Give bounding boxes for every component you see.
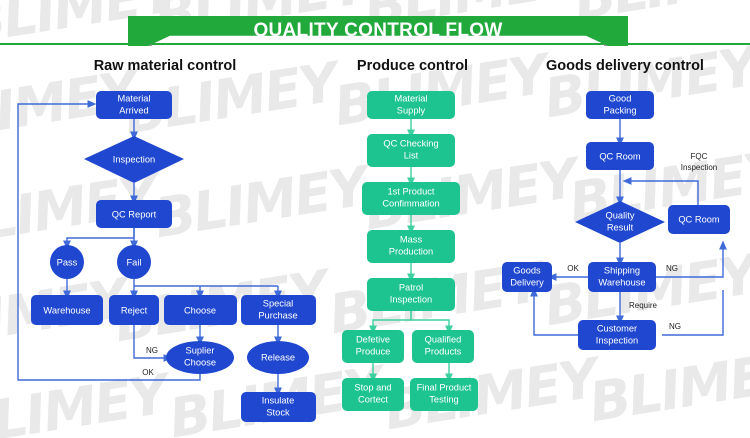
edge-label-ng-top: NG [666, 264, 678, 273]
node-label: Goods [513, 265, 541, 275]
node-label: Final Product [417, 382, 472, 392]
edge-label-fqc-line1: FQC [691, 152, 708, 161]
node-suplier-choose[interactable]: Suplier Choose [166, 341, 234, 374]
node-label: 1st Product [387, 186, 434, 196]
node-label: Supply [397, 105, 426, 115]
node-label: Release [261, 352, 295, 362]
edge-label-ok: OK [142, 368, 154, 377]
edge-label-ok: OK [567, 264, 579, 273]
node-label: Stop and [354, 382, 391, 392]
edge-label-fqc-line2: Inspection [681, 163, 717, 172]
node-insulate-stock[interactable]: Insulate Stock [241, 392, 316, 422]
node-label: Patrol [399, 282, 423, 292]
node-qc-room-main[interactable]: QC Room [586, 142, 654, 170]
node-stop-and-cortect[interactable]: Stop and Cortect [342, 378, 404, 411]
edge-label-ng: NG [146, 346, 158, 355]
node-final-product-testing[interactable]: Final Product Testing [410, 378, 478, 411]
node-label: Inspection [596, 335, 638, 345]
node-label: Good [609, 93, 632, 103]
node-shipping-warehouse[interactable]: Shipping Warehouse [588, 262, 656, 292]
node-reject[interactable]: Reject [109, 295, 159, 325]
node-label: Result [607, 222, 634, 232]
node-label: Inspection [390, 294, 432, 304]
node-special-purchase[interactable]: Special Purchase [241, 295, 316, 325]
node-label: Inspection [113, 154, 155, 164]
node-material-arrived[interactable]: Material Arrived [96, 91, 172, 119]
node-material-supply[interactable]: Material Supply [367, 91, 455, 119]
node-label: Quality [606, 210, 635, 220]
node-qc-report[interactable]: QC Report [96, 200, 172, 228]
node-label: QC Checking [383, 138, 438, 148]
node-qualified-products[interactable]: Qualified Products [412, 330, 474, 363]
node-label: Material [117, 93, 150, 103]
node-label: QC Report [112, 209, 157, 219]
node-label: Mass [400, 234, 423, 244]
node-label: Cortect [358, 394, 388, 404]
node-label: Qualified [425, 334, 462, 344]
node-defetive-produce[interactable]: Defetive Produce [342, 330, 404, 363]
node-label: Testing [429, 394, 458, 404]
node-first-product-confimmation[interactable]: 1st Product Confimmation [362, 182, 460, 215]
node-warehouse[interactable]: Warehouse [31, 295, 103, 325]
node-label: Stock [266, 407, 290, 417]
node-good-packing[interactable]: Good Packing [586, 91, 654, 119]
node-qc-checking-list[interactable]: QC Checking List [367, 134, 455, 167]
node-label: Warehouse [43, 305, 90, 315]
node-qc-room-side[interactable]: QC Room [668, 205, 730, 234]
node-customer-inspection[interactable]: Customer Inspection [578, 320, 656, 350]
node-label: Choose [184, 305, 216, 315]
node-label: Arrived [119, 105, 148, 115]
node-label: List [404, 150, 419, 160]
node-label: Products [425, 346, 462, 356]
node-label: Packing [603, 105, 636, 115]
node-goods-delivery[interactable]: Goods Delivery [502, 262, 552, 292]
node-label: QC Room [678, 214, 720, 224]
node-release[interactable]: Release [247, 341, 309, 374]
node-label: Warehouse [598, 277, 645, 287]
node-inspection[interactable]: Inspection [84, 136, 184, 183]
node-label: Insulate [262, 395, 295, 405]
node-label: Reject [121, 305, 148, 315]
node-label: Produce [356, 346, 391, 356]
node-label: QC Room [599, 151, 641, 161]
node-label: Pass [57, 257, 78, 267]
node-label: Defetive [356, 334, 390, 344]
quality-control-flow-diagram: Material Arrived Inspection QC Report Pa… [0, 0, 750, 438]
node-label: Shipping [604, 265, 640, 275]
node-label: Suplier [186, 345, 215, 355]
edge-label-ng-bottom: NG [669, 322, 681, 331]
node-mass-production[interactable]: Mass Production [367, 230, 455, 263]
node-label: Choose [184, 357, 216, 367]
node-label: Fail [127, 257, 142, 267]
node-label: Special [263, 298, 294, 308]
node-label: Production [389, 246, 433, 256]
node-choose[interactable]: Choose [164, 295, 237, 325]
edge-label-require: Require [629, 301, 658, 310]
node-label: Purchase [258, 310, 297, 320]
node-fail[interactable]: Fail [117, 245, 151, 279]
node-label: Confimmation [382, 198, 439, 208]
node-label: Customer [597, 323, 637, 333]
node-label: Material [394, 93, 427, 103]
node-pass[interactable]: Pass [50, 245, 84, 279]
node-label: Delivery [510, 277, 544, 287]
node-patrol-inspection[interactable]: Patrol Inspection [367, 278, 455, 311]
node-quality-result[interactable]: Quality Result [575, 201, 665, 243]
